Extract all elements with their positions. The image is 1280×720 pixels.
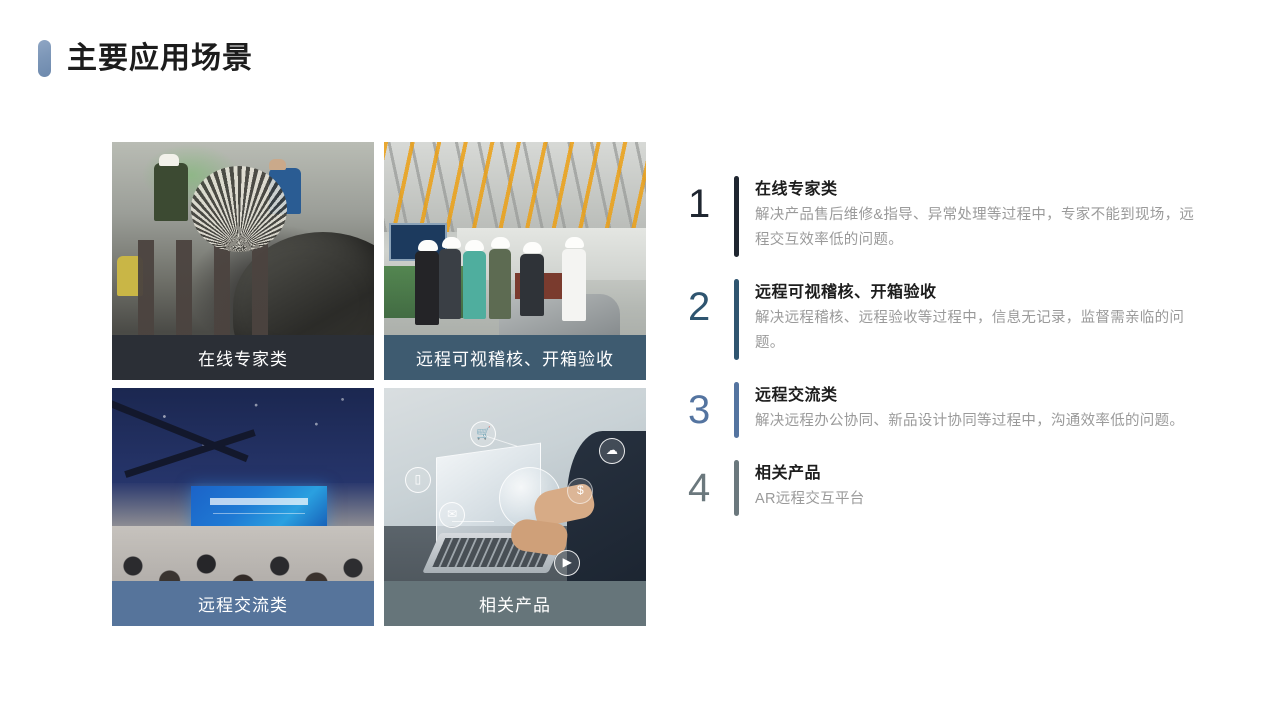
- list-item-number: 3: [688, 382, 734, 432]
- card-caption: 远程交流类: [112, 581, 374, 626]
- page-title-row: 主要应用场景: [38, 40, 253, 77]
- hard-hat-icon: [465, 240, 484, 251]
- list-item[interactable]: 3 远程交流类 解决远程办公协同、新品设计协同等过程中，沟通效率低的问题。: [688, 382, 1208, 438]
- title-accent-pill-icon: [38, 40, 51, 77]
- cart-icon: 🛒: [470, 421, 496, 447]
- worker-body-icon: [154, 163, 188, 221]
- phone-icon: ▯: [405, 467, 431, 493]
- list-item-text: 在线专家类 解决产品售后维修&指导、异常处理等过程中，专家不能到现场，远程交互效…: [755, 176, 1208, 253]
- list-item-accent-bar: [734, 176, 739, 257]
- page-title: 主要应用场景: [67, 44, 253, 74]
- image-card-related-product[interactable]: 🛒 ✉ ▯ ☁ $ ▶ ▭ 相关产品: [384, 388, 646, 626]
- list-item-text: 远程交流类 解决远程办公协同、新品设计协同等过程中，沟通效率低的问题。: [755, 382, 1208, 434]
- list-item-text: 相关产品 AR远程交互平台: [755, 460, 1208, 512]
- list-item-desc: 解决远程办公协同、新品设计协同等过程中，沟通效率低的问题。: [755, 409, 1208, 434]
- worker-body-icon: [439, 249, 461, 319]
- list-item-desc: 解决远程稽核、远程验收等过程中，信息无记录，监督需亲临的问题。: [755, 306, 1208, 356]
- list-item[interactable]: 1 在线专家类 解决产品售后维修&指导、异常处理等过程中，专家不能到现场，远程交…: [688, 176, 1208, 257]
- list-item-title: 远程交流类: [755, 383, 1208, 409]
- list-item-title: 在线专家类: [755, 177, 1208, 203]
- card-caption: 相关产品: [384, 581, 646, 626]
- image-card-online-expert[interactable]: 在线专家类: [112, 142, 374, 380]
- worker-body-icon: [415, 251, 439, 325]
- list-item-desc: AR远程交互平台: [755, 487, 1208, 512]
- worker-head-icon: [269, 159, 286, 170]
- play-icon: ▶: [554, 550, 580, 576]
- worker-body-icon: [562, 249, 586, 321]
- slide-canvas: 主要应用场景 在线专家类: [0, 0, 1280, 720]
- hard-hat-icon: [442, 237, 461, 248]
- list-item-number: 2: [688, 279, 734, 329]
- image-card-grid: 在线专家类: [112, 142, 646, 644]
- scenario-list: 1 在线专家类 解决产品售后维修&指导、异常处理等过程中，专家不能到现场，远程交…: [688, 176, 1208, 538]
- worker-body-icon: [463, 251, 486, 319]
- list-item-number: 1: [688, 176, 734, 226]
- hard-hat-icon: [491, 237, 510, 248]
- hard-hat-icon: [159, 154, 179, 166]
- list-item-number: 4: [688, 460, 734, 510]
- list-item-title: 相关产品: [755, 461, 1208, 487]
- hard-hat-icon: [418, 240, 438, 251]
- image-card-remote-communication[interactable]: 远程交流类: [112, 388, 374, 626]
- list-item-accent-bar: [734, 279, 739, 360]
- list-item-accent-bar: [734, 382, 739, 438]
- cloud-icon: ☁: [599, 438, 625, 464]
- card-caption: 在线专家类: [112, 335, 374, 380]
- hard-hat-icon: [565, 237, 584, 248]
- list-item-title: 远程可视稽核、开箱验收: [755, 280, 1208, 306]
- list-item-desc: 解决产品售后维修&指导、异常处理等过程中，专家不能到现场，远程交互效率低的问题。: [755, 203, 1208, 253]
- card-caption: 远程可视稽核、开箱验收: [384, 335, 646, 380]
- list-item-accent-bar: [734, 460, 739, 516]
- list-item-text: 远程可视稽核、开箱验收 解决远程稽核、远程验收等过程中，信息无记录，监督需亲临的…: [755, 279, 1208, 356]
- worker-body-icon: [520, 254, 544, 316]
- worker-body-icon: [489, 249, 511, 319]
- list-item[interactable]: 2 远程可视稽核、开箱验收 解决远程稽核、远程验收等过程中，信息无记录，监督需亲…: [688, 279, 1208, 360]
- image-card-remote-audit[interactable]: 远程可视稽核、开箱验收: [384, 142, 646, 380]
- hard-hat-icon: [523, 242, 542, 253]
- worker-body-icon: [269, 168, 301, 214]
- list-item[interactable]: 4 相关产品 AR远程交互平台: [688, 460, 1208, 516]
